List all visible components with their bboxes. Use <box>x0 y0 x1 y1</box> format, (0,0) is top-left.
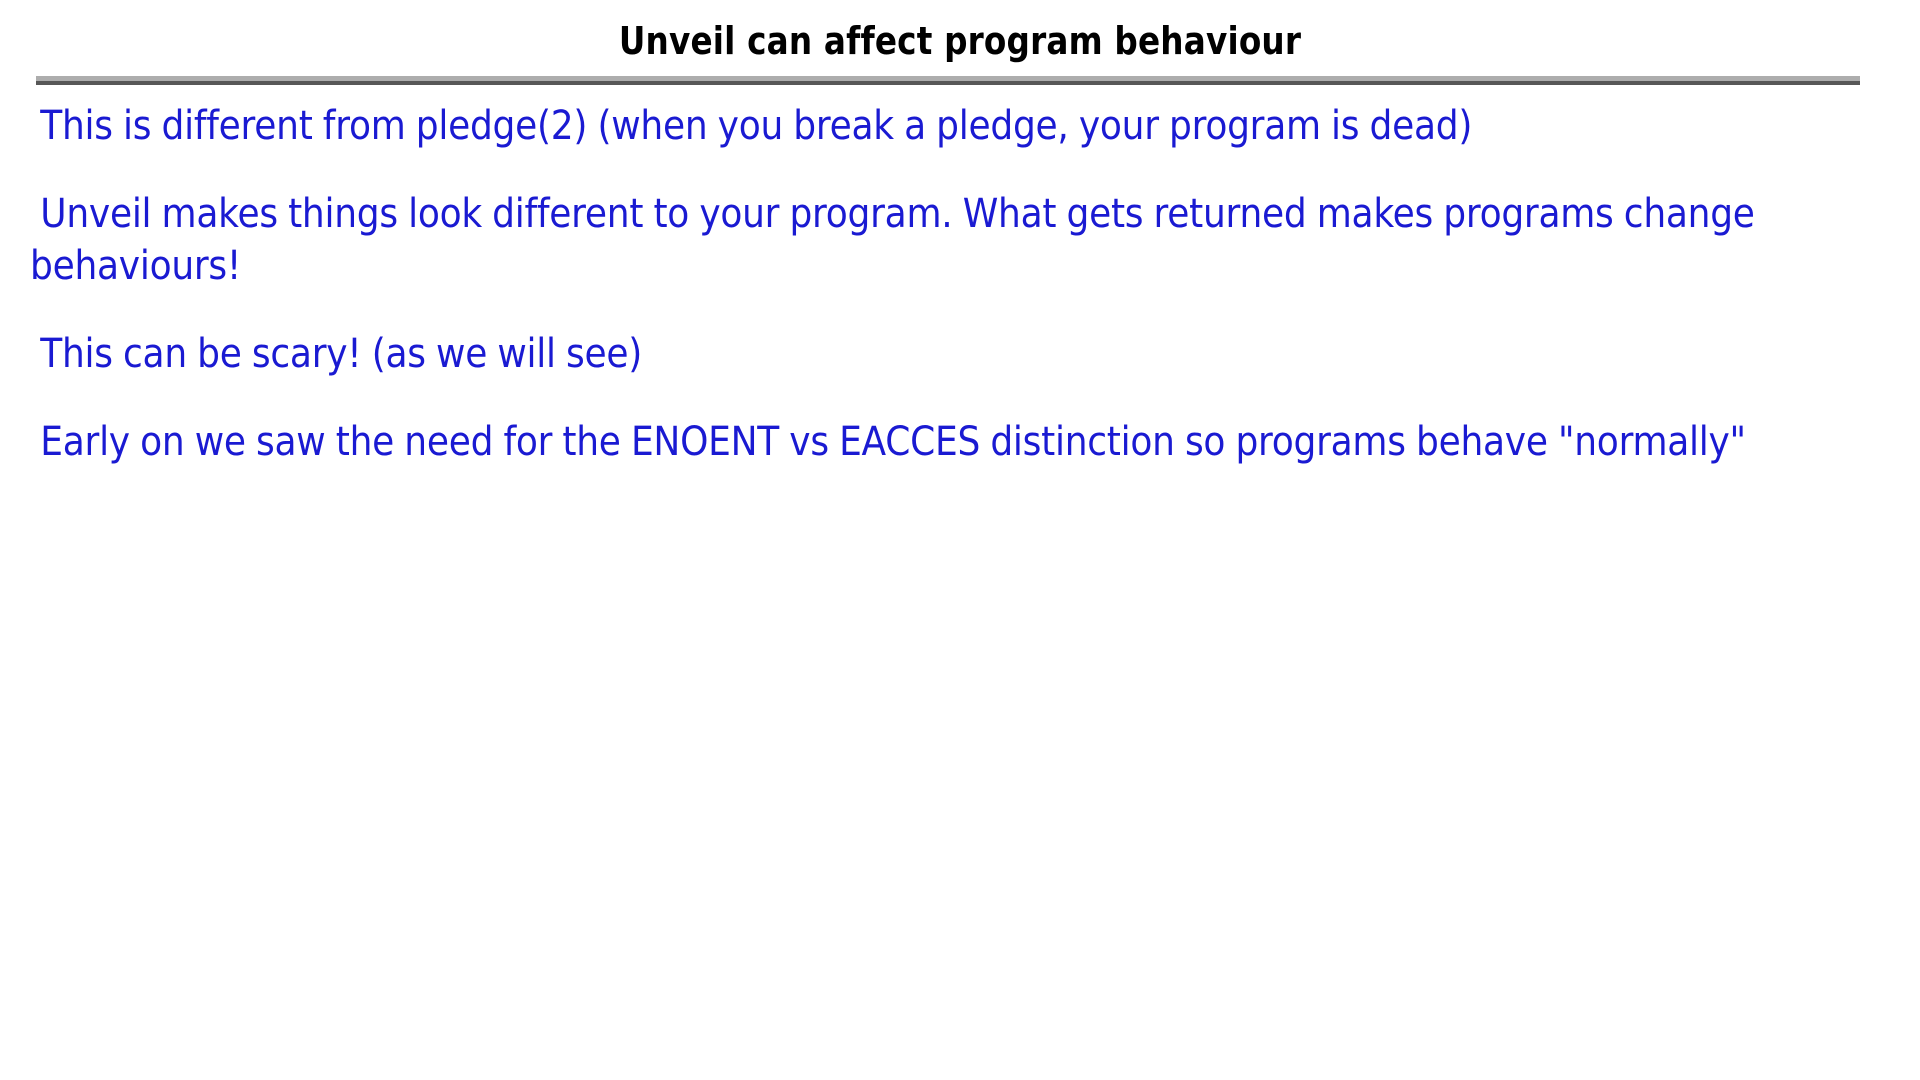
divider-dark-band <box>36 81 1860 85</box>
slide-body: This is different from pledge(2) (when y… <box>30 96 1900 468</box>
body-paragraph-enoent-eacces: Early on we saw the need for the ENOENT … <box>30 416 1902 468</box>
body-paragraph-scary-note: This can be scary! (as we will see) <box>30 328 1902 380</box>
slide-canvas: Unveil can affect program behaviour This… <box>0 0 1920 1080</box>
body-paragraph-unveil-behaviour-change: Unveil makes things look different to yo… <box>30 188 1902 292</box>
page-title: Unveil can affect program behaviour <box>134 18 1785 64</box>
title-divider <box>36 76 1860 85</box>
body-paragraph-pledge-comparison: This is different from pledge(2) (when y… <box>30 100 1902 152</box>
